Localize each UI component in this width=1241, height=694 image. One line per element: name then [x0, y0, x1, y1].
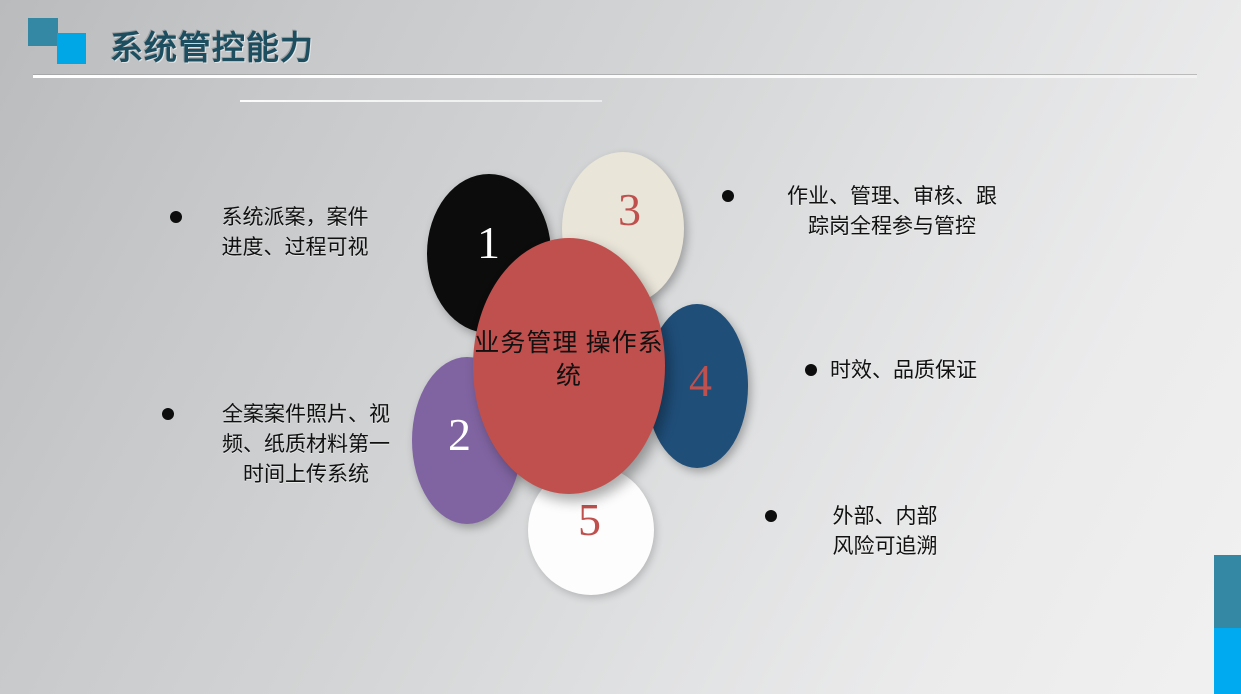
callout-4-text: 时效、品质保证 [830, 356, 977, 386]
header-divider [33, 75, 1197, 78]
bullet-icon [805, 364, 817, 376]
header-square-blue-icon [57, 33, 86, 64]
callout-item-5: 外部、内部 风险可追溯 [765, 502, 1015, 562]
callout-item-4: 时效、品质保证 [805, 356, 1065, 386]
page-title: 系统管控能力 [110, 21, 314, 69]
callout-item-2: 全案案件照片、视 频、纸质材料第一 时间上传系统 [162, 400, 432, 489]
edge-accent-blue [1214, 628, 1241, 694]
diagram-center-node[interactable]: 业务管理 操作系统 [473, 238, 665, 494]
callout-1-text: 系统派案，案件 进度、过程可视 [195, 203, 395, 263]
callout-2-text: 全案案件照片、视 频、纸质材料第一 时间上传系统 [187, 400, 425, 489]
diagram-center-label: 业务管理 操作系统 [473, 328, 665, 393]
callout-3-text: 作业、管理、审核、跟 踪岗全程参与管控 [747, 182, 1037, 242]
callout-item-1: 系统派案，案件 进度、过程可视 [170, 203, 420, 263]
bullet-icon [162, 408, 174, 420]
petal-1-number: 1 [477, 220, 500, 266]
petal-4-number: 4 [689, 358, 712, 404]
bullet-icon [722, 190, 734, 202]
callout-5-text: 外部、内部 风险可追溯 [790, 502, 980, 562]
header-sub-divider [240, 100, 602, 102]
edge-accent-teal [1214, 555, 1241, 628]
callout-item-3: 作业、管理、审核、跟 踪岗全程参与管控 [722, 182, 1052, 242]
bullet-icon [765, 510, 777, 522]
petal-3-number: 3 [618, 187, 641, 233]
slide: 系统管控能力 3 1 4 2 5 业务管理 操作系统 系统派案，案件 进度、过程… [0, 0, 1241, 694]
bullet-icon [170, 211, 182, 223]
header-square-teal-icon [28, 18, 58, 46]
petal-2-number: 2 [448, 412, 471, 458]
petal-5-number: 5 [578, 497, 601, 543]
